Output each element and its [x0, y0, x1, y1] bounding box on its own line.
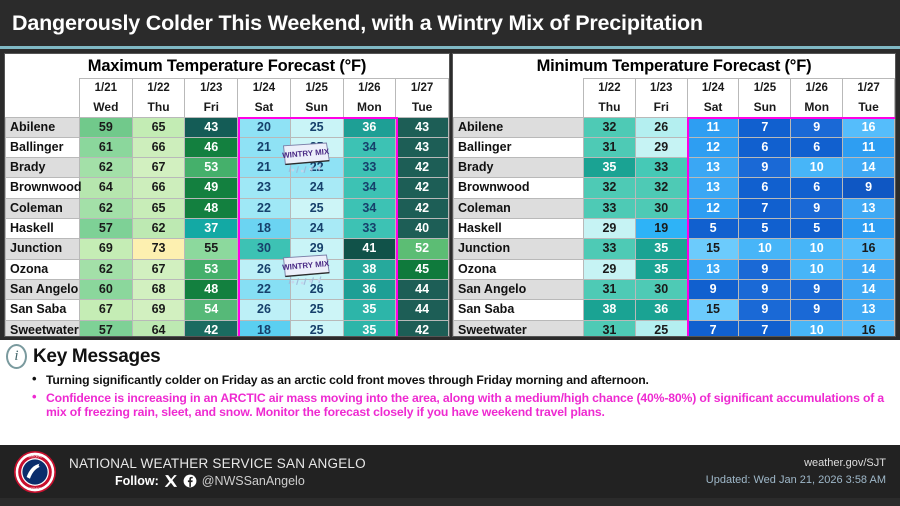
city-name-cell: Coleman	[454, 198, 584, 218]
temperature-cell: 25	[635, 320, 687, 337]
city-name-cell: Sweetwater	[454, 320, 584, 337]
column-date-header-5: 1/27	[843, 79, 895, 98]
temperature-cell: 64	[80, 178, 133, 198]
column-date-header-5: 1/26	[343, 79, 396, 98]
temperature-cell: 10	[791, 320, 843, 337]
temperature-cell: 28	[290, 259, 343, 279]
column-date-header-6: 1/27	[396, 79, 449, 98]
temperature-cell: 9	[687, 279, 739, 299]
temperature-cell: 9	[791, 300, 843, 320]
temperature-cell: 7	[739, 117, 791, 137]
temperature-cell: 62	[80, 198, 133, 218]
temperature-cell: 62	[132, 219, 185, 239]
temperature-cell: 69	[132, 300, 185, 320]
table-row: Sweetwater57644218253542	[6, 320, 449, 337]
temperature-cell: 29	[584, 259, 636, 279]
temperature-cell: 34	[343, 178, 396, 198]
temperature-cell: 29	[290, 239, 343, 259]
table-row: San Angelo60684822263644	[6, 279, 449, 299]
temperature-cell: 44	[396, 300, 449, 320]
footer: NATIONAL SERVICE NATIONAL WEATHER SERVIC…	[0, 445, 900, 498]
temperature-cell: 10	[791, 259, 843, 279]
temperature-cell: 42	[396, 198, 449, 218]
table-row: Coleman3330127913	[454, 198, 895, 218]
temperature-cell: 16	[843, 239, 895, 259]
temperature-cell: 67	[132, 158, 185, 178]
temperature-cell: 13	[843, 300, 895, 320]
temperature-cell: 69	[80, 239, 133, 259]
column-date-header-0: 1/22	[584, 79, 636, 98]
temperature-cell: 31	[584, 320, 636, 337]
temperature-cell: 5	[739, 219, 791, 239]
max-temperature-table-panel: Maximum Temperature Forecast (°F) 1/211/…	[4, 53, 450, 337]
temperature-cell: 46	[185, 137, 238, 157]
temperature-cell: 16	[843, 117, 895, 137]
temperature-cell: 35	[343, 300, 396, 320]
column-day-header-wed: Wed	[80, 98, 133, 117]
footer-follow-label: Follow:	[115, 474, 159, 488]
max-corner-cell-2	[6, 98, 80, 117]
city-name-cell: Coleman	[6, 198, 80, 218]
temperature-cell: 9	[739, 300, 791, 320]
column-day-header-fri: Fri	[185, 98, 238, 117]
column-day-header-thu: Thu	[132, 98, 185, 117]
temperature-cell: 7	[739, 320, 791, 337]
temperature-cell: 49	[185, 178, 238, 198]
temperature-cell: 66	[132, 178, 185, 198]
footer-right: weather.gov/SJT Updated: Wed Jan 21, 202…	[706, 457, 886, 486]
temperature-cell: 22	[238, 279, 291, 299]
city-name-cell: Ballinger	[6, 137, 80, 157]
temperature-cell: 42	[396, 158, 449, 178]
min-corner-cell-2	[454, 98, 584, 117]
city-name-cell: Junction	[6, 239, 80, 259]
info-circle-icon: i	[6, 344, 27, 369]
temperature-cell: 35	[343, 320, 396, 337]
key-messages-title: Key Messages	[33, 346, 160, 368]
max-temperature-table: Maximum Temperature Forecast (°F) 1/211/…	[5, 54, 449, 337]
temperature-cell: 15	[687, 300, 739, 320]
column-day-header-tue: Tue	[843, 98, 895, 117]
city-name-cell: Ozona	[6, 259, 80, 279]
max-table-day-header-row: WedThuFriSatSunMonTue	[6, 98, 449, 117]
temperature-cell: 14	[843, 279, 895, 299]
temperature-cell: 68	[132, 279, 185, 299]
key-messages-list: Turning significantly colder on Friday a…	[32, 373, 892, 420]
temperature-cell: 66	[132, 137, 185, 157]
temperature-cell: 18	[238, 219, 291, 239]
column-date-header-1: 1/23	[635, 79, 687, 98]
svg-text:SERVICE: SERVICE	[29, 486, 42, 490]
temperature-cell: 10	[739, 239, 791, 259]
temperature-cell: 9	[791, 279, 843, 299]
city-name-cell: Brownwood	[454, 178, 584, 198]
temperature-cell: 9	[791, 198, 843, 218]
table-row: Ozona29351391014	[454, 259, 895, 279]
temperature-cell: 55	[185, 239, 238, 259]
temperature-cell: 33	[343, 219, 396, 239]
column-day-header-mon: Mon	[791, 98, 843, 117]
temperature-cell: 67	[132, 259, 185, 279]
footer-social-handle[interactable]: @NWSSanAngelo	[202, 474, 305, 488]
min-table-caption: Minimum Temperature Forecast (°F)	[453, 54, 895, 78]
temperature-cell: 25	[290, 320, 343, 337]
max-table-caption: Maximum Temperature Forecast (°F)	[5, 54, 449, 78]
temperature-cell: 24	[290, 178, 343, 198]
temperature-cell: 5	[687, 219, 739, 239]
temperature-cell: 54	[185, 300, 238, 320]
temperature-cell: 9	[739, 158, 791, 178]
table-row: San Saba3836159913	[454, 300, 895, 320]
temperature-cell: 26	[238, 259, 291, 279]
temperature-cell: 53	[185, 259, 238, 279]
temperature-cell: 73	[132, 239, 185, 259]
column-day-header-mon: Mon	[343, 98, 396, 117]
temperature-cell: 13	[687, 158, 739, 178]
temperature-cell: 30	[635, 198, 687, 218]
temperature-cell: 33	[635, 158, 687, 178]
table-row: Brownwood323213669	[454, 178, 895, 198]
page-title: Dangerously Colder This Weekend, with a …	[12, 11, 703, 36]
temperature-cell: 30	[635, 279, 687, 299]
temperature-cell: 59	[80, 117, 133, 137]
table-row: Junction333515101016	[454, 239, 895, 259]
temperature-cell: 37	[185, 219, 238, 239]
temperature-cell: 6	[739, 178, 791, 198]
column-day-header-fri: Fri	[635, 98, 687, 117]
temperature-cell: 25	[290, 198, 343, 218]
city-name-cell: Brady	[6, 158, 80, 178]
temperature-cell: 23	[238, 178, 291, 198]
table-row: Abilene3226117916	[454, 117, 895, 137]
table-row: Ballinger61664621253443	[6, 137, 449, 157]
temperature-cell: 33	[584, 198, 636, 218]
temperature-cell: 11	[843, 137, 895, 157]
temperature-cell: 15	[687, 239, 739, 259]
temperature-cell: 38	[343, 259, 396, 279]
temperature-cell: 38	[584, 300, 636, 320]
temperature-cell: 57	[80, 219, 133, 239]
city-name-cell: Junction	[454, 239, 584, 259]
temperature-cell: 26	[635, 117, 687, 137]
city-name-cell: Ozona	[454, 259, 584, 279]
column-date-header-4: 1/26	[791, 79, 843, 98]
temperature-cell: 41	[343, 239, 396, 259]
key-messages-header: i Key Messages	[6, 344, 892, 369]
table-row: Brady35331391014	[454, 158, 895, 178]
city-name-cell: Brownwood	[6, 178, 80, 198]
temperature-cell: 25	[290, 137, 343, 157]
temperature-cell: 6	[791, 178, 843, 198]
temperature-cell: 25	[290, 117, 343, 137]
temperature-cell: 16	[843, 320, 895, 337]
column-date-header-3: 1/25	[739, 79, 791, 98]
facebook-icon[interactable]	[183, 474, 197, 488]
temperature-cell: 43	[396, 117, 449, 137]
city-name-cell: San Saba	[454, 300, 584, 320]
table-row: Brady62675321223342	[6, 158, 449, 178]
temperature-cell: 34	[343, 137, 396, 157]
temperature-cell: 18	[238, 320, 291, 337]
temperature-cell: 32	[584, 117, 636, 137]
temperature-cell: 26	[290, 279, 343, 299]
temperature-cell: 45	[396, 259, 449, 279]
temperature-cell: 42	[396, 178, 449, 198]
nws-logo-icon: NATIONAL SERVICE	[14, 451, 56, 493]
table-row: Junction69735530294152	[6, 239, 449, 259]
column-date-header-2: 1/24	[687, 79, 739, 98]
temperature-cell: 34	[343, 198, 396, 218]
temperature-cell: 32	[635, 178, 687, 198]
temperature-cell: 26	[238, 300, 291, 320]
temperature-cell: 14	[843, 259, 895, 279]
temperature-cell: 14	[843, 158, 895, 178]
temperature-cell: 36	[635, 300, 687, 320]
column-day-header-sun: Sun	[290, 98, 343, 117]
temperature-cell: 6	[739, 137, 791, 157]
temperature-cell: 48	[185, 198, 238, 218]
temperature-cell: 62	[80, 158, 133, 178]
max-table-date-header-row: 1/211/221/231/241/251/261/27	[6, 79, 449, 98]
column-day-header-sat: Sat	[687, 98, 739, 117]
column-date-header-2: 1/23	[185, 79, 238, 98]
temperature-cell: 64	[132, 320, 185, 337]
temperature-cell: 48	[185, 279, 238, 299]
city-name-cell: San Saba	[6, 300, 80, 320]
temperature-cell: 13	[843, 198, 895, 218]
x-twitter-icon[interactable]	[164, 474, 178, 488]
temperature-cell: 65	[132, 117, 185, 137]
temperature-cell: 40	[396, 219, 449, 239]
temperature-cell: 21	[238, 158, 291, 178]
min-corner-cell	[454, 79, 584, 98]
footer-website-url[interactable]: weather.gov/SJT	[706, 457, 886, 469]
min-table-date-header-row: 1/221/231/241/251/261/27	[454, 79, 895, 98]
column-date-header-0: 1/21	[80, 79, 133, 98]
city-name-cell: Sweetwater	[6, 320, 80, 337]
temperature-cell: 31	[584, 279, 636, 299]
temperature-cell: 57	[80, 320, 133, 337]
temperature-cell: 21	[238, 137, 291, 157]
temperature-cell: 44	[396, 279, 449, 299]
temperature-cell: 35	[635, 259, 687, 279]
infographic-page: Dangerously Colder This Weekend, with a …	[0, 0, 900, 506]
city-name-cell: Abilene	[6, 117, 80, 137]
forecast-tables: Maximum Temperature Forecast (°F) 1/211/…	[0, 49, 900, 340]
footer-left: NATIONAL WEATHER SERVICE SAN ANGELO Foll…	[69, 456, 366, 488]
temperature-cell: 9	[739, 259, 791, 279]
temperature-cell: 60	[80, 279, 133, 299]
column-day-header-sat: Sat	[238, 98, 291, 117]
temperature-cell: 65	[132, 198, 185, 218]
table-row: Coleman62654822253442	[6, 198, 449, 218]
temperature-cell: 61	[80, 137, 133, 157]
temperature-cell: 43	[396, 137, 449, 157]
temperature-cell: 22	[290, 158, 343, 178]
temperature-cell: 11	[687, 117, 739, 137]
temperature-cell: 9	[791, 117, 843, 137]
temperature-cell: 5	[791, 219, 843, 239]
table-row: Haskell57623718243340	[6, 219, 449, 239]
min-table-day-header-row: ThuFriSatSunMonTue	[454, 98, 895, 117]
column-date-header-4: 1/25	[290, 79, 343, 98]
temperature-cell: 6	[791, 137, 843, 157]
temperature-cell: 7	[739, 198, 791, 218]
temperature-cell: 20	[238, 117, 291, 137]
key-message-item-1: Turning significantly colder on Friday a…	[32, 373, 892, 387]
temperature-cell: 33	[584, 239, 636, 259]
temperature-cell: 19	[635, 219, 687, 239]
key-messages-section: i Key Messages Turning significantly col…	[0, 340, 900, 445]
temperature-cell: 9	[843, 178, 895, 198]
city-name-cell: Ballinger	[454, 137, 584, 157]
temperature-cell: 7	[687, 320, 739, 337]
temperature-cell: 30	[238, 239, 291, 259]
temperature-cell: 9	[739, 279, 791, 299]
table-row: San Angelo313099914	[454, 279, 895, 299]
column-day-header-sun: Sun	[739, 98, 791, 117]
min-table-body: Abilene3226117916Ballinger3129126611Brad…	[454, 117, 895, 337]
svg-text:NATIONAL: NATIONAL	[28, 454, 43, 458]
table-row: Brownwood64664923243442	[6, 178, 449, 198]
temperature-cell: 67	[80, 300, 133, 320]
table-row: San Saba67695426253544	[6, 300, 449, 320]
max-table-body: Abilene59654320253643Ballinger6166462125…	[6, 117, 449, 337]
temperature-cell: 10	[791, 158, 843, 178]
table-row: Ozona62675326283845	[6, 259, 449, 279]
temperature-cell: 35	[584, 158, 636, 178]
temperature-cell: 22	[238, 198, 291, 218]
temperature-cell: 36	[343, 117, 396, 137]
temperature-cell: 32	[584, 178, 636, 198]
min-temperature-table: Minimum Temperature Forecast (°F) 1/221/…	[453, 54, 895, 337]
column-date-header-3: 1/24	[238, 79, 291, 98]
city-name-cell: Haskell	[454, 219, 584, 239]
temperature-cell: 24	[290, 219, 343, 239]
footer-follow-row: Follow: @NWSSanAngelo	[69, 474, 366, 488]
table-row: Ballinger3129126611	[454, 137, 895, 157]
temperature-cell: 13	[687, 178, 739, 198]
temperature-cell: 25	[290, 300, 343, 320]
temperature-cell: 62	[80, 259, 133, 279]
city-name-cell: Haskell	[6, 219, 80, 239]
temperature-cell: 42	[185, 320, 238, 337]
temperature-cell: 12	[687, 198, 739, 218]
footer-office-name: NATIONAL WEATHER SERVICE SAN ANGELO	[69, 456, 366, 471]
temperature-cell: 29	[635, 137, 687, 157]
column-day-header-tue: Tue	[396, 98, 449, 117]
city-name-cell: Abilene	[454, 117, 584, 137]
min-temperature-table-panel: Minimum Temperature Forecast (°F) 1/221/…	[452, 53, 896, 337]
city-name-cell: Brady	[454, 158, 584, 178]
city-name-cell: San Angelo	[454, 279, 584, 299]
column-day-header-thu: Thu	[584, 98, 636, 117]
table-row: Abilene59654320253643	[6, 117, 449, 137]
temperature-cell: 52	[396, 239, 449, 259]
city-name-cell: San Angelo	[6, 279, 80, 299]
temperature-cell: 35	[635, 239, 687, 259]
key-message-item-2: Confidence is increasing in an ARCTIC ai…	[32, 391, 892, 419]
title-bar: Dangerously Colder This Weekend, with a …	[0, 0, 900, 46]
temperature-cell: 36	[343, 279, 396, 299]
temperature-cell: 12	[687, 137, 739, 157]
max-corner-cell	[6, 79, 80, 98]
temperature-cell: 11	[843, 219, 895, 239]
temperature-cell: 43	[185, 117, 238, 137]
temperature-cell: 31	[584, 137, 636, 157]
footer-updated-timestamp: Updated: Wed Jan 21, 2026 3:58 AM	[706, 474, 886, 486]
table-row: Haskell291955511	[454, 219, 895, 239]
temperature-cell: 33	[343, 158, 396, 178]
temperature-cell: 42	[396, 320, 449, 337]
column-date-header-1: 1/22	[132, 79, 185, 98]
temperature-cell: 29	[584, 219, 636, 239]
temperature-cell: 13	[687, 259, 739, 279]
temperature-cell: 53	[185, 158, 238, 178]
table-row: Sweetwater3125771016	[454, 320, 895, 337]
temperature-cell: 10	[791, 239, 843, 259]
